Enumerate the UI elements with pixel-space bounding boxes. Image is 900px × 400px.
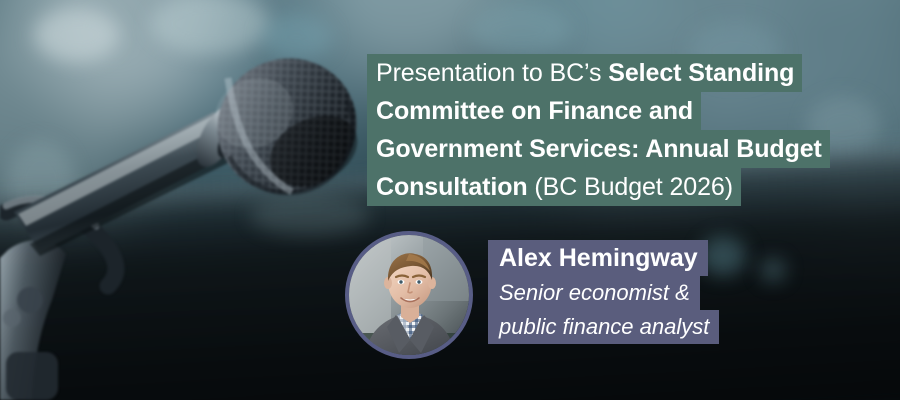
title-line: Consultation (BC Budget 2026) <box>367 168 741 206</box>
title-segment: Consultation <box>376 173 528 201</box>
title-segment: Government Services: Annual Budget <box>376 135 822 163</box>
title-segment: Presentation to BC’s <box>376 59 608 87</box>
speaker-details: Alex Hemingway Senior economist & public… <box>488 240 788 344</box>
presentation-slide: Presentation to BC’s Select Standing Com… <box>0 0 900 400</box>
title-segment: Select Standing <box>608 59 794 87</box>
slide-title: Presentation to BC’s Select Standing Com… <box>367 54 867 206</box>
speaker-avatar <box>345 231 473 359</box>
microphone-icon <box>0 0 380 400</box>
title-segment: (BC Budget 2026) <box>528 173 733 201</box>
title-line: Presentation to BC’s Select Standing <box>367 54 802 92</box>
speaker-name: Alex Hemingway <box>488 240 708 276</box>
speaker-role-line: Senior economist & <box>488 276 700 310</box>
avatar-portrait-image <box>349 235 469 355</box>
title-segment: Committee on Finance and <box>376 97 693 125</box>
speaker-role-line: public finance analyst <box>488 310 719 344</box>
title-line: Committee on Finance and <box>367 92 701 130</box>
title-line: Government Services: Annual Budget <box>367 130 830 168</box>
